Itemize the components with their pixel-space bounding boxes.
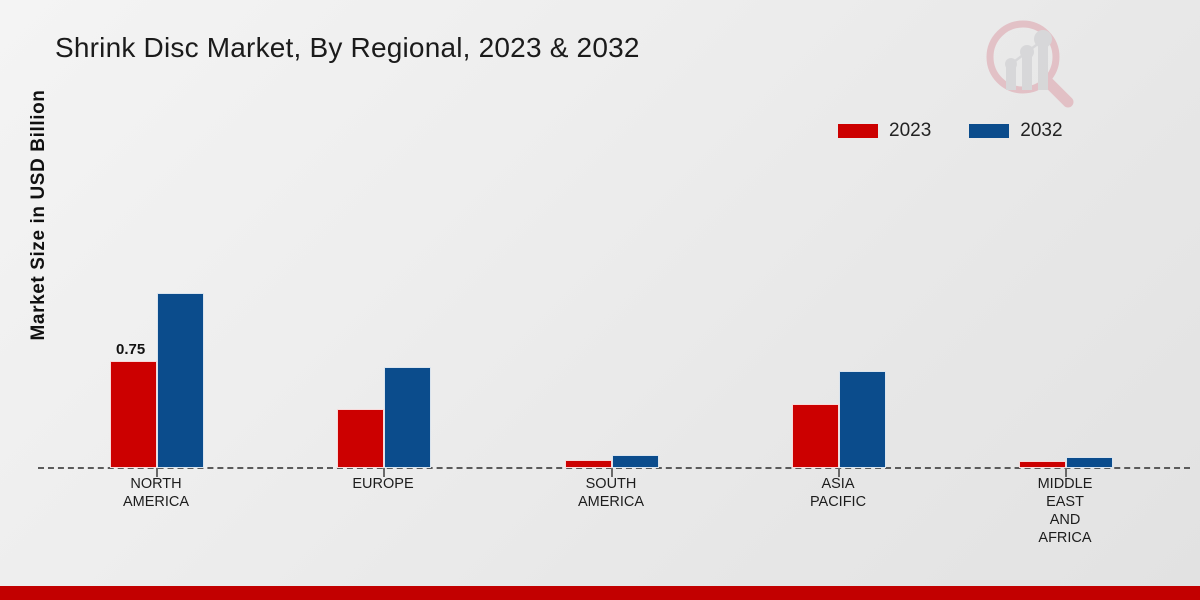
category-label-europe: EUROPE bbox=[313, 475, 453, 493]
bar-2023-europe[interactable] bbox=[337, 409, 384, 468]
bar-2032-europe[interactable] bbox=[384, 367, 431, 468]
plot-area: 0.75 NORTH AMERICA EUROPE SOUTH AMERICA … bbox=[0, 0, 1200, 600]
bar-2023-south-america[interactable] bbox=[565, 460, 612, 468]
bar-2032-south-america[interactable] bbox=[612, 455, 659, 468]
category-label-middle-east-and-africa: MIDDLE EAST AND AFRICA bbox=[995, 475, 1135, 547]
category-label-south-america: SOUTH AMERICA bbox=[541, 475, 681, 511]
bar-2032-middle-east-and-africa[interactable] bbox=[1066, 457, 1113, 468]
bar-2023-north-america[interactable] bbox=[110, 361, 157, 468]
category-label-asia-pacific: ASIA PACIFIC bbox=[768, 475, 908, 511]
bar-2023-middle-east-and-africa[interactable] bbox=[1019, 461, 1066, 468]
category-label-north-america: NORTH AMERICA bbox=[86, 475, 226, 511]
bar-2032-north-america[interactable] bbox=[157, 293, 204, 468]
bar-2032-asia-pacific[interactable] bbox=[839, 371, 886, 468]
data-label-2023-north-america: 0.75 bbox=[116, 341, 145, 358]
footer-accent-bar bbox=[0, 586, 1200, 600]
bar-2023-asia-pacific[interactable] bbox=[792, 404, 839, 468]
chart-container: Shrink Disc Market, By Regional, 2023 & … bbox=[0, 0, 1200, 600]
